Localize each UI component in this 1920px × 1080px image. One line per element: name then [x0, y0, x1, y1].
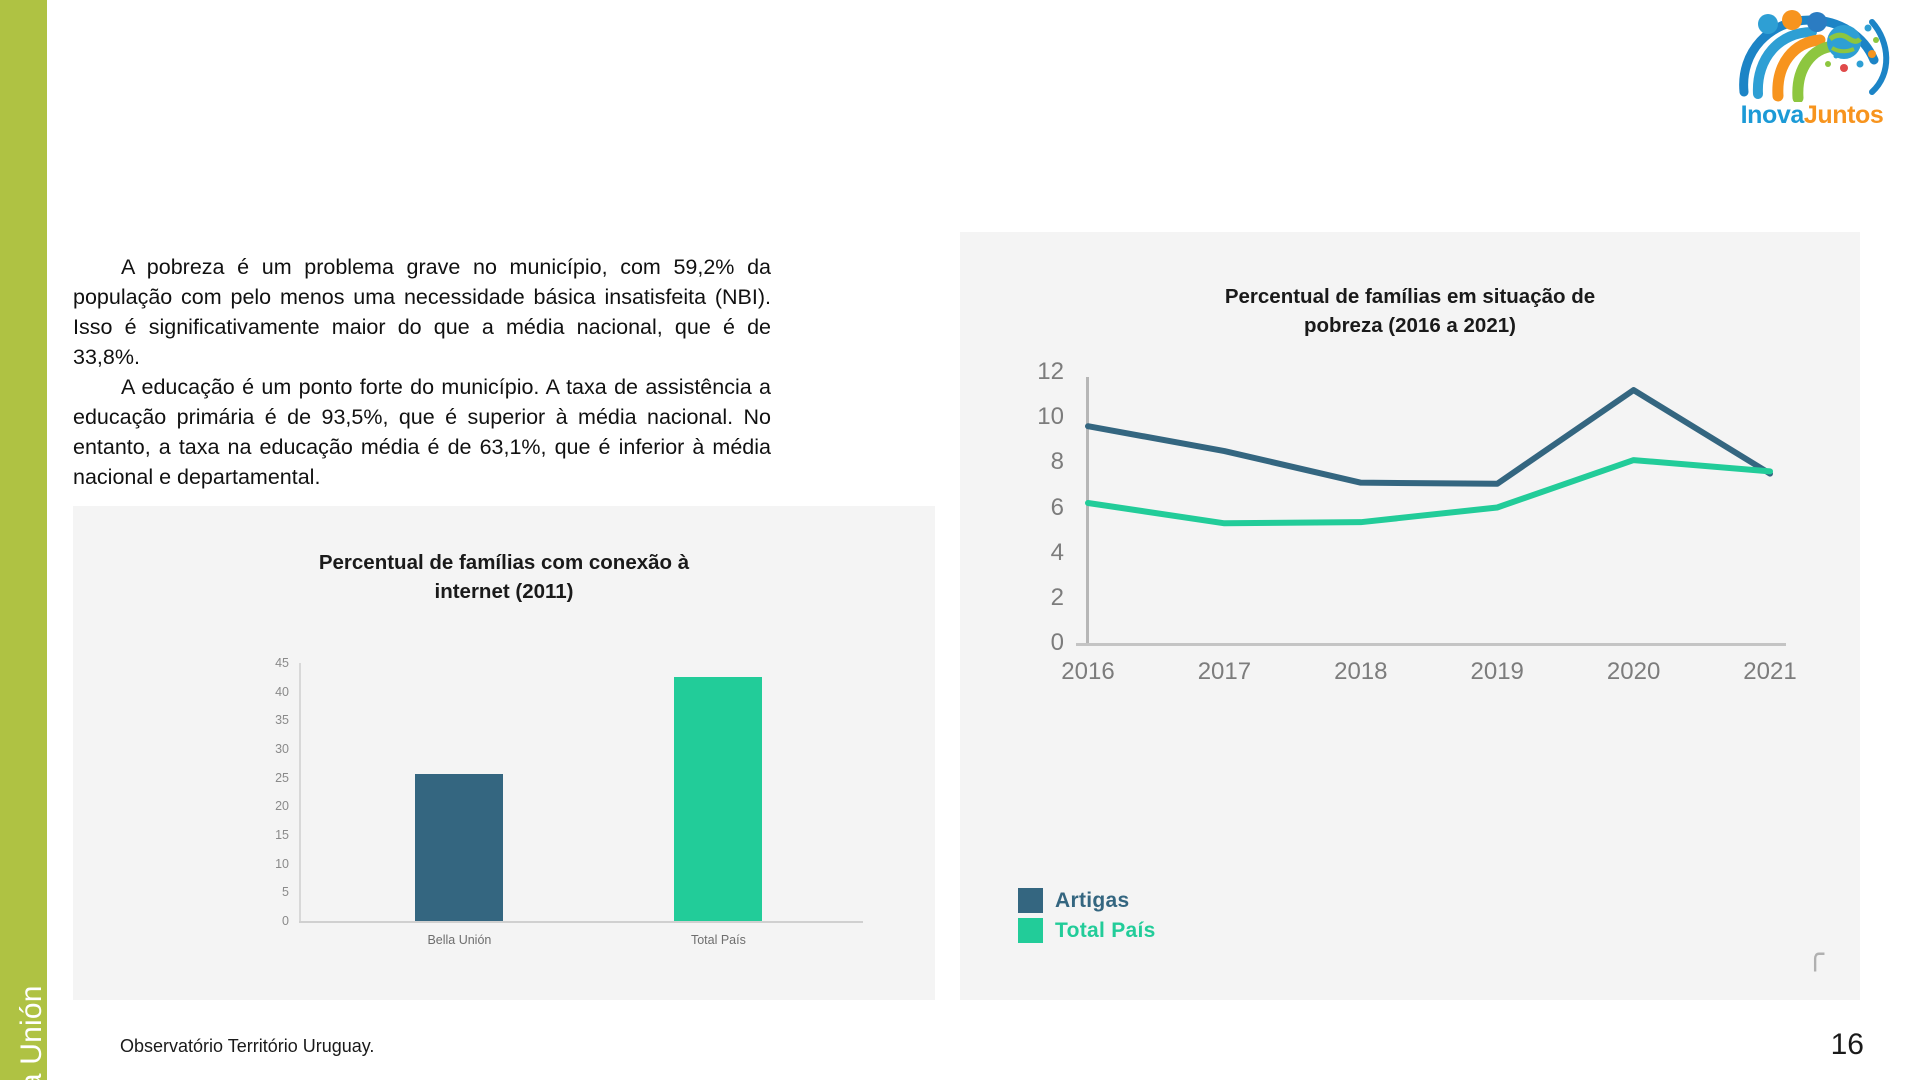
bar-chart-y-tick: 15	[275, 828, 289, 842]
legend-label: Total País	[1055, 919, 1156, 943]
bar-chart-bar	[674, 677, 762, 921]
line-chart-plot: 121086420 201620172018201920202021	[1028, 372, 1828, 692]
logo-text-juntos: Juntos	[1804, 101, 1884, 129]
bar-chart-y-tick: 5	[282, 885, 289, 899]
line-chart-y-tick: 4	[1051, 539, 1064, 567]
legend-swatch-icon	[1018, 888, 1043, 913]
line-chart-series-line	[1088, 390, 1770, 484]
bar-chart-y-tick: 35	[275, 713, 289, 727]
line-chart-y-tick: 8	[1051, 448, 1064, 476]
bar-chart-y-tick: 25	[275, 771, 289, 785]
bar-chart-x-label: Bella Unión	[369, 933, 549, 947]
bar-chart-y-tick: 40	[275, 685, 289, 699]
line-chart-y-tick: 0	[1051, 629, 1064, 657]
line-chart-series-line	[1088, 460, 1770, 523]
bar-chart-y-tick: 0	[282, 914, 289, 928]
logo-text-inova: Inova	[1741, 101, 1804, 129]
footer-source-note: Observatório Território Uruguay.	[120, 1036, 374, 1057]
sidebar-title: Bella Unión	[15, 921, 49, 1080]
bar-chart-bar	[415, 774, 503, 921]
line-chart-title-line1: Percentual de famílias em situação de	[960, 282, 1860, 311]
bar-chart-y-tick: 30	[275, 742, 289, 756]
line-chart-x-tick: 2016	[1061, 658, 1114, 686]
line-chart-title-line2: pobreza (2016 a 2021)	[960, 311, 1860, 340]
logo-mark-icon	[1722, 6, 1902, 102]
line-chart-y-tick: 10	[1037, 403, 1064, 431]
line-chart-x-tick: 2020	[1607, 658, 1660, 686]
line-chart-legend: ArtigasTotal País	[1018, 888, 1156, 948]
left-sidebar: Bella Unión	[0, 0, 47, 1080]
bar-chart-y-axis: 454035302520151050	[263, 663, 297, 921]
bar-chart-title-line2: internet (2011)	[73, 577, 935, 606]
bar-chart-plot: 454035302520151050 Bella UniónTotal País	[263, 663, 863, 953]
line-chart-series	[1076, 372, 1788, 647]
bar-chart-y-tick: 10	[275, 857, 289, 871]
bar-chart-y-tick: 45	[275, 656, 289, 670]
line-chart-x-tick: 2017	[1198, 658, 1251, 686]
line-chart-y-tick: 12	[1037, 358, 1064, 386]
paragraph-poverty: A pobreza é um problema grave no municíp…	[73, 252, 771, 372]
bar-chart-x-label: Total País	[628, 933, 808, 947]
line-chart-y-axis: 121086420	[1028, 372, 1074, 644]
bar-chart-bar-group	[415, 663, 503, 921]
line-chart-y-tick: 6	[1051, 494, 1064, 522]
line-chart-y-tick: 2	[1051, 584, 1064, 612]
legend-item[interactable]: Total País	[1018, 918, 1156, 943]
slide-canvas: Bella Unión	[0, 0, 1920, 1080]
bar-chart-panel: Percentual de famílias com conexão à int…	[73, 506, 935, 1000]
legend-swatch-icon	[1018, 918, 1043, 943]
line-chart-x-tick: 2021	[1743, 658, 1796, 686]
bar-chart-title-line1: Percentual de famílias com conexão à	[73, 548, 935, 577]
bar-chart-bar-group	[674, 663, 762, 921]
bar-chart-bars: Bella UniónTotal País	[300, 663, 863, 921]
line-chart-x-tick: 2019	[1470, 658, 1523, 686]
line-chart-x-tick: 2018	[1334, 658, 1387, 686]
paragraph-education: A educação é um ponto forte do município…	[73, 372, 771, 492]
line-chart-title: Percentual de famílias em situação de po…	[960, 282, 1860, 340]
line-chart-panel: Percentual de famílias em situação de po…	[960, 232, 1860, 1000]
body-text: A pobreza é um problema grave no municíp…	[73, 252, 771, 492]
page-number: 16	[1831, 1028, 1864, 1062]
corner-bracket-icon: ╭	[1806, 944, 1832, 970]
legend-label: Artigas	[1055, 889, 1129, 913]
bar-chart-y-tick: 20	[275, 799, 289, 813]
logo-wordmark: InovaJuntos	[1722, 101, 1902, 130]
legend-item[interactable]: Artigas	[1018, 888, 1156, 913]
inovajuntos-logo: InovaJuntos	[1722, 6, 1902, 132]
bar-chart-title: Percentual de famílias com conexão à int…	[73, 548, 935, 606]
bar-chart-x-axis-line	[299, 921, 863, 923]
